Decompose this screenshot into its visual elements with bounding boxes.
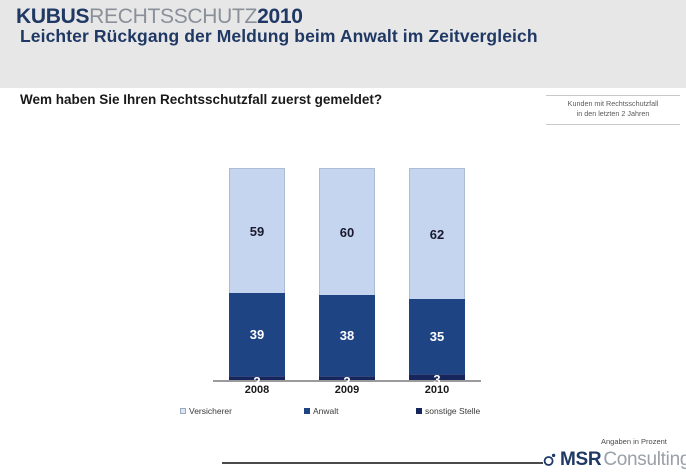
- msr-circle-dot-icon: [543, 452, 558, 467]
- chart-category-axis: 2008 2009 2010: [213, 384, 481, 402]
- kubus-brand-logo: KUBUSRECHTSSCHUTZ2010: [16, 6, 303, 27]
- bar-segment-versicherer-2010[interactable]: 62: [409, 168, 465, 299]
- bar-value-label: 38: [340, 329, 354, 342]
- category-label-2009: 2009: [319, 384, 375, 396]
- chart-legend: Versicherer Anwalt sonstige Stelle: [180, 406, 510, 422]
- bar-group-2010[interactable]: 62 35 3: [409, 168, 465, 380]
- legend-item-sonstige-stelle[interactable]: sonstige Stelle: [416, 406, 480, 416]
- bar-value-label: 59: [250, 225, 264, 238]
- msr-light-text: Consulting: [603, 450, 686, 469]
- legend-swatch-icon: [304, 408, 310, 414]
- bar-value-label: 39: [250, 328, 264, 341]
- legend-label: Anwalt: [313, 406, 339, 416]
- bar-segment-sonstige-2010[interactable]: 3: [409, 374, 465, 380]
- filter-note-line-1: Kunden mit Rechtsschutzfall: [548, 99, 678, 109]
- filter-note-line-2: in den letzten 2 Jahren: [548, 109, 678, 119]
- category-label-2010: 2010: [409, 384, 465, 396]
- legend-item-anwalt[interactable]: Anwalt: [304, 406, 339, 416]
- unit-note: Angaben in Prozent: [601, 437, 667, 446]
- legend-swatch-icon: [416, 408, 422, 414]
- msr-bold-text: MSR: [560, 450, 601, 469]
- bar-segment-anwalt-2010[interactable]: 35: [409, 299, 465, 373]
- legend-label: sonstige Stelle: [425, 406, 480, 416]
- bar-value-label: 60: [340, 226, 354, 239]
- question-title: Wem haben Sie Ihren Rechtsschutzfall zue…: [20, 92, 382, 107]
- bar-value-label: 62: [430, 228, 444, 241]
- bar-segment-versicherer-2008[interactable]: 59: [229, 168, 285, 293]
- legend-item-versicherer[interactable]: Versicherer: [180, 406, 232, 416]
- chart-plot-area: 59 39 2 60 38 2 62: [213, 168, 481, 380]
- category-label-2008: 2008: [229, 384, 285, 396]
- bar-segment-anwalt-2009[interactable]: 38: [319, 295, 375, 376]
- bar-value-label: 35: [430, 330, 444, 343]
- bar-segment-anwalt-2008[interactable]: 39: [229, 293, 285, 376]
- legend-swatch-icon: [180, 408, 186, 414]
- bar-group-2009[interactable]: 60 38 2: [319, 168, 375, 380]
- footer-divider-line: [222, 462, 543, 464]
- bar-segment-versicherer-2009[interactable]: 60: [319, 168, 375, 295]
- page-title: Leichter Rückgang der Meldung beim Anwal…: [20, 26, 538, 47]
- brand-year-text: 2010: [257, 5, 303, 28]
- bar-segment-sonstige-2009[interactable]: 2: [319, 376, 375, 380]
- filter-note-box: Kunden mit Rechtsschutzfall in den letzt…: [546, 95, 680, 125]
- brand-rechtsschutz-text: RECHTSSCHUTZ: [89, 5, 257, 28]
- legend-label: Versicherer: [189, 406, 232, 416]
- bar-segment-sonstige-2008[interactable]: 2: [229, 376, 285, 380]
- bar-group-2008[interactable]: 59 39 2: [229, 168, 285, 380]
- msr-consulting-logo: MSR Consulting: [543, 450, 686, 469]
- brand-kubus-text: KUBUS: [16, 5, 89, 28]
